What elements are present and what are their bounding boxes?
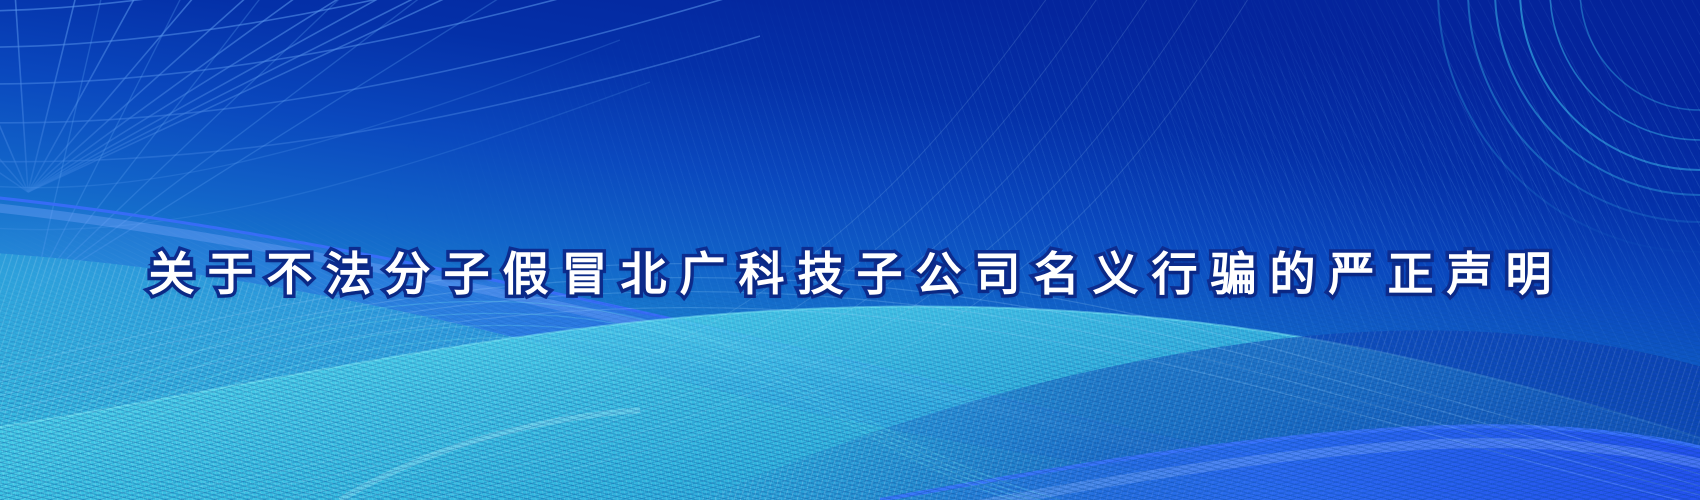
grid-pattern-top-left (0, 0, 800, 192)
banner-hero: 关于不法分子假冒北广科技子公司名义行骗的严正声明 (0, 0, 1700, 500)
banner-title: 关于不法分子假冒北广科技子公司名义行骗的严正声明 (136, 246, 1565, 302)
banner-title-container: 关于不法分子假冒北广科技子公司名义行骗的严正声明 (0, 215, 1700, 333)
